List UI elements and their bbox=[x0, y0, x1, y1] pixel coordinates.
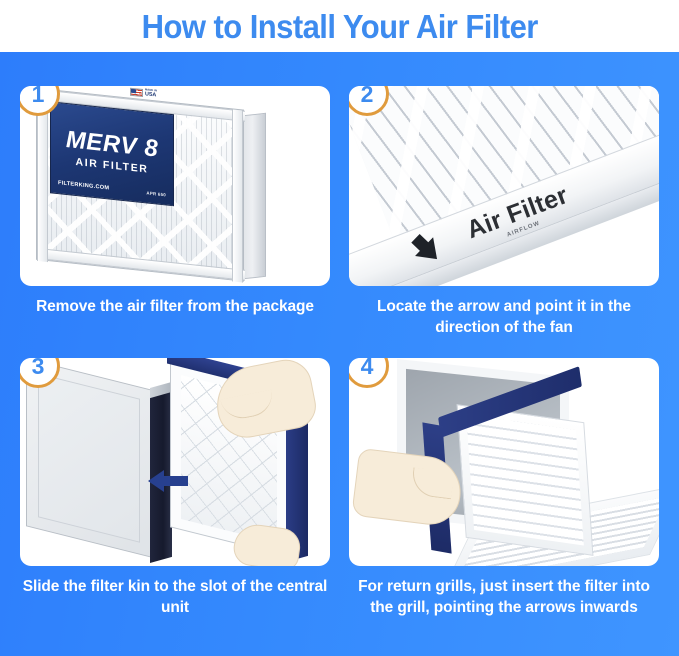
page-title: How to Install Your Air Filter bbox=[141, 10, 537, 43]
grille-door-louvers bbox=[466, 414, 584, 545]
steps-grid: ♛ FILTER KING MADE IN bbox=[0, 52, 679, 656]
step-1-number: 1 bbox=[32, 86, 45, 106]
slot-recess bbox=[38, 373, 140, 542]
step-3: 3 Slide the filter kin to the slot of th… bbox=[20, 358, 330, 618]
step-4-number: 4 bbox=[361, 358, 374, 378]
step-3-illustration bbox=[20, 358, 330, 566]
country-label: USA bbox=[145, 91, 156, 98]
step-4-card: 4 bbox=[349, 358, 659, 566]
step-3-caption: Slide the filter kin to the slot of the … bbox=[20, 577, 330, 618]
step-2-caption: Locate the arrow and point it in the dir… bbox=[349, 297, 659, 338]
how-to-install-air-filter-infographic: How to Install Your Air Filter bbox=[0, 0, 679, 656]
apr-rating-text: APR 650 bbox=[146, 190, 166, 197]
filter-product-label: MERV 8 AIR FILTER FILTERKING.COM APR 650 bbox=[50, 101, 174, 206]
step-2-number: 2 bbox=[361, 86, 374, 106]
label-footer: FILTERKING.COM APR 650 bbox=[58, 180, 166, 197]
step-1-illustration: ♛ FILTER KING MADE IN bbox=[20, 86, 330, 286]
step-2-card: Air Filter AIRFLOW 2 bbox=[349, 86, 659, 286]
made-in-usa-badge: MADE IN USA bbox=[130, 88, 157, 99]
filter-edge-closeup: Air Filter AIRFLOW bbox=[349, 86, 659, 286]
step-4-illustration bbox=[349, 358, 659, 566]
central-unit-slot bbox=[26, 358, 152, 557]
steps-background: ♛ FILTER KING MADE IN bbox=[0, 52, 679, 656]
us-flag-icon bbox=[130, 88, 143, 97]
header-bar: How to Install Your Air Filter bbox=[0, 0, 679, 52]
return-grille-door bbox=[457, 404, 594, 556]
website-text: FILTERKING.COM bbox=[58, 180, 109, 191]
made-in-usa-text: MADE IN USA bbox=[145, 90, 157, 99]
step-1-caption: Remove the air filter from the package bbox=[20, 297, 330, 318]
step-2: Air Filter AIRFLOW 2 Locate the arrow an… bbox=[349, 86, 659, 338]
step-3-number: 3 bbox=[32, 358, 45, 378]
step-4-caption: For return grills, just insert the filte… bbox=[349, 577, 659, 618]
step-2-illustration: Air Filter AIRFLOW bbox=[349, 86, 659, 286]
step-4: 4 For return grills, just insert the fil… bbox=[349, 358, 659, 618]
filter-frame-right bbox=[232, 109, 243, 282]
insertion-arrow-icon bbox=[148, 468, 188, 494]
step-1-card: ♛ FILTER KING MADE IN bbox=[20, 86, 330, 286]
merv8-filter-box: ♛ FILTER KING MADE IN bbox=[36, 88, 268, 284]
step-1: ♛ FILTER KING MADE IN bbox=[20, 86, 330, 318]
step-3-card: 3 bbox=[20, 358, 330, 566]
slot-front-panel bbox=[26, 358, 152, 557]
